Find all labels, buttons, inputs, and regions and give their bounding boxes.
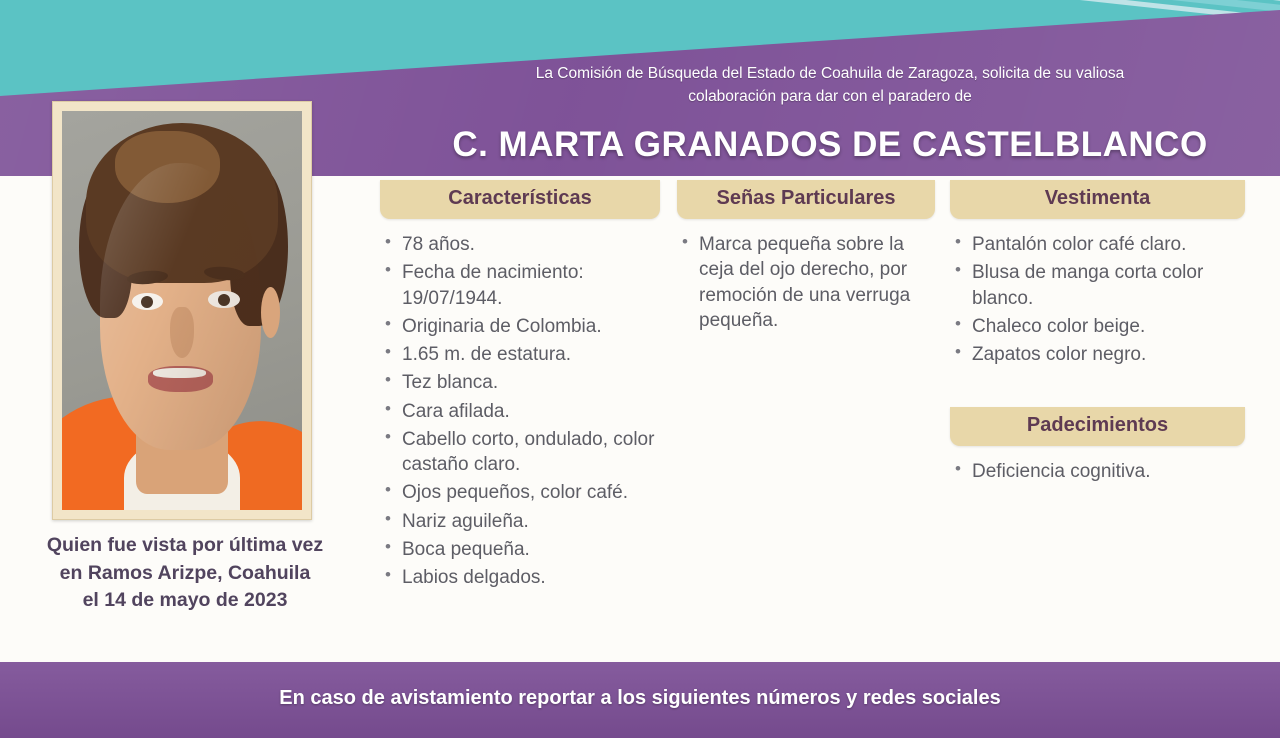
senas-particulares-list: Marca pequeña sobre la ceja del ojo dere… [677, 232, 935, 333]
list-item: 78 años. [380, 232, 660, 257]
caracteristicas-list: 78 años. Fecha de nacimiento: 19/07/1944… [380, 232, 660, 590]
section-title-vestimenta: Vestimenta [950, 180, 1245, 219]
column-vestimenta: Vestimenta Pantalón color café claro. Bl… [950, 180, 1245, 488]
column-senas-particulares: Señas Particulares Marca pequeña sobre l… [677, 180, 935, 336]
list-item: Tez blanca. [380, 370, 660, 395]
list-item: Pantalón color café claro. [950, 232, 1245, 257]
vestimenta-list: Pantalón color café claro. Blusa de mang… [950, 232, 1245, 367]
list-item: Cara afilada. [380, 399, 660, 424]
last-seen-caption: Quien fue vista por última vez en Ramos … [0, 532, 370, 615]
list-item: 1.65 m. de estatura. [380, 342, 660, 367]
footer-report-text: En caso de avistamiento reportar a los s… [0, 687, 1280, 710]
list-item: Labios delgados. [380, 565, 660, 590]
list-item: Boca pequeña. [380, 537, 660, 562]
last-seen-line-1: Quien fue vista por última vez [0, 532, 370, 560]
list-item: Marca pequeña sobre la ceja del ojo dere… [677, 232, 935, 333]
missing-person-poster: La Comisión de Búsqueda del Estado de Co… [0, 0, 1280, 738]
photo-face-shading [100, 163, 261, 450]
last-seen-line-2: en Ramos Arizpe, Coahuila [0, 560, 370, 588]
list-item: Deficiencia cognitiva. [950, 459, 1245, 484]
portrait-photo [62, 111, 302, 510]
section-title-padecimientos: Padecimientos [950, 407, 1245, 446]
header-text-block: La Comisión de Búsqueda del Estado de Co… [380, 62, 1280, 165]
list-item: Originaria de Colombia. [380, 314, 660, 339]
list-item: Cabello corto, ondulado, color castaño c… [380, 427, 660, 478]
last-seen-line-3: el 14 de mayo de 2023 [0, 587, 370, 615]
padecimientos-list: Deficiencia cognitiva. [950, 459, 1245, 484]
portrait-frame [52, 101, 312, 520]
agency-request-line-1: La Comisión de Búsqueda del Estado de Co… [380, 62, 1280, 85]
missing-person-name: C. MARTA GRANADOS DE CASTELBLANCO [380, 125, 1280, 165]
agency-request-line-2: colaboración para dar con el paradero de [380, 85, 1280, 108]
list-item: Zapatos color negro. [950, 342, 1245, 367]
section-title-senas-particulares: Señas Particulares [677, 180, 935, 219]
list-item: Fecha de nacimiento: 19/07/1944. [380, 260, 660, 311]
footer-band: En caso de avistamiento reportar a los s… [0, 662, 1280, 738]
list-item: Chaleco color beige. [950, 314, 1245, 339]
section-title-caracteristicas: Características [380, 180, 660, 219]
list-item: Ojos pequeños, color café. [380, 480, 660, 505]
details-columns: Características 78 años. Fecha de nacimi… [380, 180, 1280, 650]
list-item: Blusa de manga corta color blanco. [950, 260, 1245, 311]
column-caracteristicas: Características 78 años. Fecha de nacimi… [380, 180, 660, 593]
list-item: Nariz aguileña. [380, 509, 660, 534]
